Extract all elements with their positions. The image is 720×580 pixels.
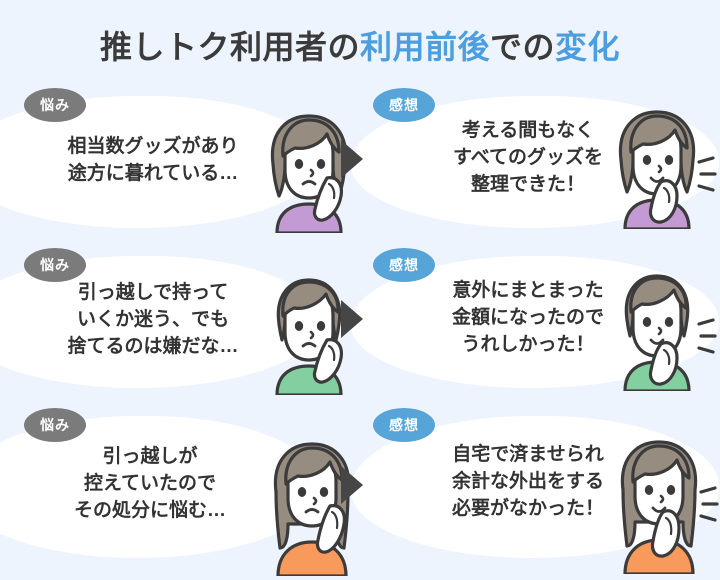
transition-arrow-3 (341, 466, 363, 504)
speech-text-before: 引っ越しが 控えていたので その処分に悩む… (30, 444, 270, 525)
comparison-row-1: 悩み 相当数グッズがあり 途方に暮れている… (0, 88, 720, 238)
transition-arrow-1 (341, 140, 363, 178)
title-segment-1: 利用前後 (360, 29, 490, 65)
sparkle-lines (699, 320, 715, 352)
badge-after: 感想 (373, 248, 435, 282)
comparison-row-2: 悩み 引っ越しで持って いくか迷う、でも 捨てるのは嫌だな… (0, 248, 720, 398)
infographic-canvas: 推しトク利用者の利用前後での変化 悩み 相当数グッズがあり 途方に暮れている… (0, 0, 720, 580)
sparkle-lines (701, 488, 717, 520)
badge-after: 感想 (373, 88, 435, 122)
title-segment-2: での (490, 29, 555, 65)
person-worried-woman-long-orange (258, 436, 366, 580)
row-2-before-cell: 悩み 引っ越しで持って いくか迷う、でも 捨てるのは嫌だな… (0, 248, 365, 398)
badge-before: 悩み (24, 88, 86, 122)
sparkle-lines (699, 158, 715, 190)
title-segment-0: 推しトク利用者の (100, 29, 360, 65)
speech-text-before: 引っ越しで持って いくか迷う、でも 捨てるのは嫌だな… (38, 280, 268, 361)
badge-before: 悩み (24, 248, 86, 282)
page-title: 推しトク利用者の利用前後での変化 (0, 22, 720, 68)
row-3-before-cell: 悩み 引っ越しが 控えていたので その処分に悩む… (0, 408, 365, 573)
speech-text-before: 相当数グッズがあり 途方に暮れている… (38, 134, 268, 188)
title-segment-3: 変化 (555, 29, 620, 65)
transition-arrow-2 (341, 300, 363, 338)
person-happy-woman-long-orange (605, 434, 720, 579)
comparison-row-3: 悩み 引っ越しが 控えていたので その処分に悩む… (0, 408, 720, 573)
row-3-after-cell: 感想 自宅で済ませられ 余計な外出をする 必要がなかった！ (365, 408, 720, 573)
row-1-before-cell: 悩み 相当数グッズがあり 途方に暮れている… (0, 88, 365, 238)
badge-after: 感想 (373, 408, 435, 442)
person-happy-woman-bob-purple (603, 104, 720, 234)
row-1-after-cell: 感想 考える間もなく すべてのグッズを 整理できた！ (365, 88, 720, 238)
row-2-after-cell: 感想 意外にまとまった 金額になったので うれしかった！ (365, 248, 720, 398)
badge-before: 悩み (24, 408, 86, 442)
person-happy-man-short-green (603, 266, 720, 396)
